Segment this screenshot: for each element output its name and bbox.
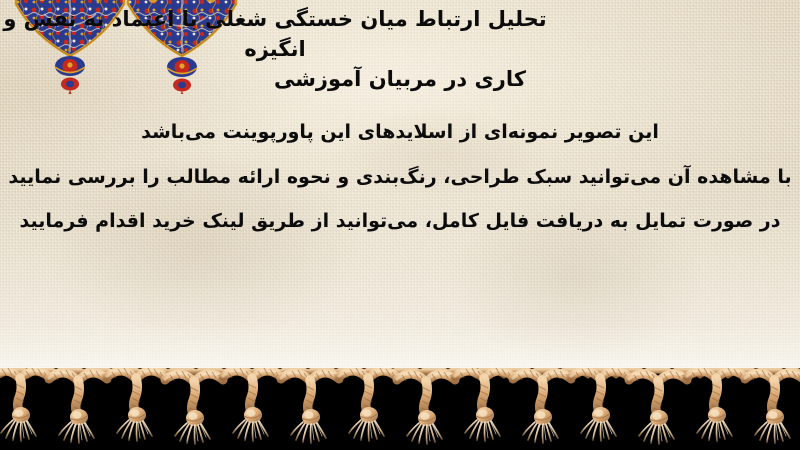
tassel-fringe-graphic [0, 368, 800, 450]
slide-title-line-2: کاری در مربیان آموزشی [0, 65, 800, 95]
tassel-fringe-border [0, 368, 800, 450]
slide-body-line-1: این تصویر نمونه‌ای از اسلایدهای این پاور… [0, 110, 800, 155]
slide-title-line-1: تحلیل ارتباط میان خستگی شغلی با اعتماد ب… [0, 5, 800, 65]
slide-canvas: تحلیل ارتباط میان خستگی شغلی با اعتماد ب… [0, 0, 800, 450]
slide-body-text: این تصویر نمونه‌ای از اسلایدهای این پاور… [0, 110, 800, 244]
slide-body-line-2: با مشاهده آن می‌توانید سبک طراحی، رنگ‌بن… [0, 155, 800, 200]
slide-body-line-3: در صورت تمایل به دریافت فایل کامل، می‌تو… [0, 199, 800, 244]
slide-title: تحلیل ارتباط میان خستگی شغلی با اعتماد ب… [0, 5, 800, 94]
